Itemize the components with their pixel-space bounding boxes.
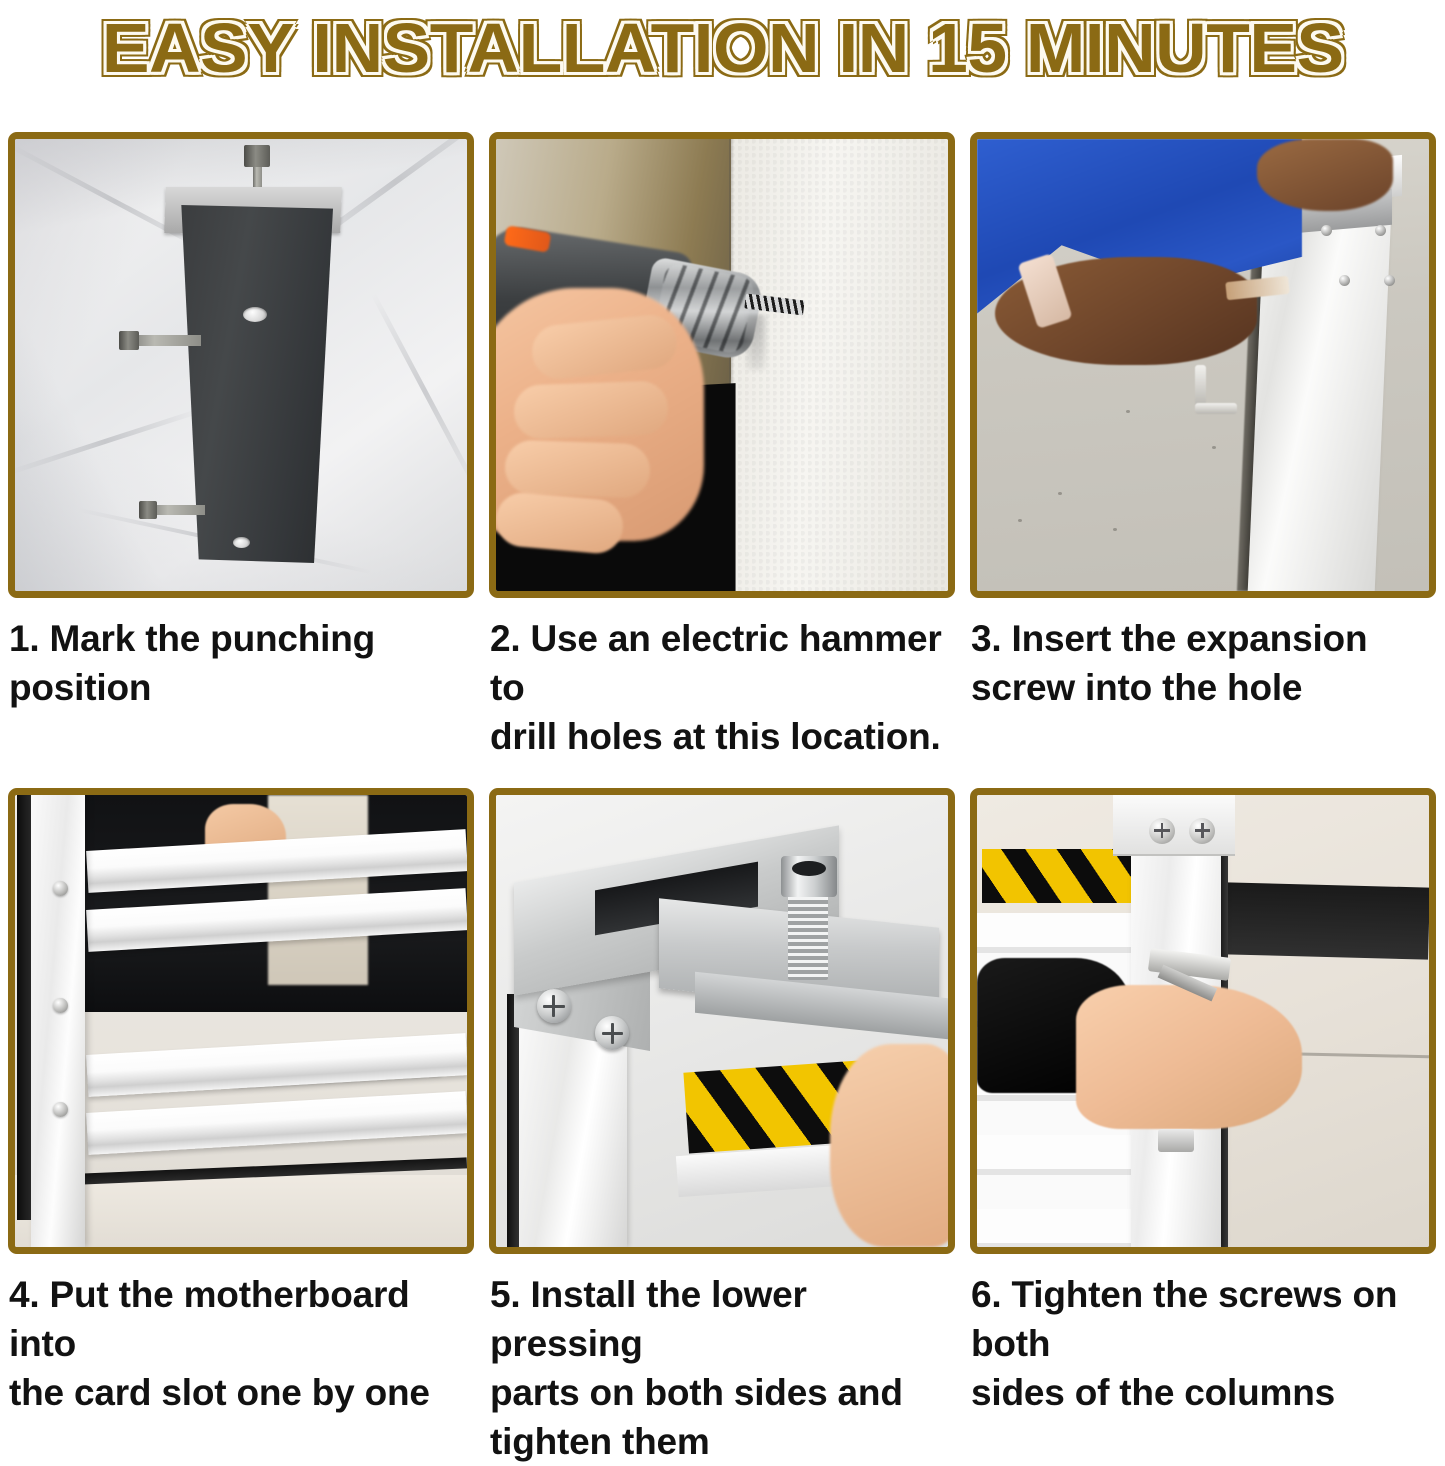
template-lower-hole <box>233 537 250 548</box>
white-column <box>31 795 85 1247</box>
upper-hand <box>1257 139 1393 211</box>
template-upper-hole <box>243 307 267 322</box>
floor-speck-1 <box>1058 492 1062 495</box>
step-6: 6. Tighten the screws on both sides of t… <box>970 788 1436 1466</box>
step-3: 3. Insert the expansion screw into the h… <box>970 132 1436 761</box>
step-3-caption: 3. Insert the expansion screw into the h… <box>970 614 1436 712</box>
expansion-screw-photo <box>970 132 1436 598</box>
marking-template-image <box>15 139 467 591</box>
installer-hand <box>1076 985 1302 1130</box>
page-title: EASY INSTALLATION IN 15 MINUTES <box>102 11 1344 85</box>
tighten-screws-photo <box>970 788 1436 1254</box>
drilling-wall-photo <box>489 132 955 598</box>
column-bolt-3 <box>1339 275 1350 286</box>
step-2-caption: 2. Use an electric hammer to drill holes… <box>489 614 955 761</box>
step-1-caption: 1. Mark the punching position <box>8 614 474 712</box>
allen-key-long-arm <box>1195 365 1206 407</box>
floor-speck-2 <box>1113 528 1117 531</box>
title-banner: EASY INSTALLATION IN 15 MINUTES <box>0 0 1445 92</box>
drill-dust <box>745 315 768 369</box>
pressing-part-image <box>496 795 948 1247</box>
step-6-caption: 6. Tighten the screws on both sides of t… <box>970 1270 1436 1417</box>
top-rod-nut <box>244 145 270 167</box>
side-bolt-upper-head <box>119 331 139 350</box>
finger-4 <box>496 491 625 556</box>
tighten-screws-image <box>977 795 1429 1247</box>
column-bolt-2 <box>1375 225 1386 236</box>
finger-3 <box>504 439 650 498</box>
step-1: 1. Mark the punching position <box>8 132 474 761</box>
step-4-caption: 4. Put the motherboard into the card slo… <box>8 1270 474 1417</box>
step-2: 2. Use an electric hammer to drill holes… <box>489 132 955 761</box>
insert-boards-photo <box>8 788 474 1254</box>
marking-template-photo <box>8 132 474 598</box>
lower-column-screw <box>1158 1129 1194 1152</box>
cross-screw-1 <box>537 989 571 1023</box>
hex-socket-icon <box>792 861 826 876</box>
side-bolt-lower-head <box>139 501 157 519</box>
allen-key-icon <box>1176 365 1244 424</box>
pressing-part-photo <box>489 788 955 1254</box>
finger-2 <box>513 380 668 440</box>
column-screw-top-left <box>1149 818 1175 844</box>
column-screw-top-right <box>1189 818 1215 844</box>
hazard-stripe-board <box>982 849 1136 903</box>
drilling-wall-image <box>496 139 948 591</box>
column-bolt-1 <box>1321 225 1332 236</box>
column-dark-edge <box>17 795 31 1220</box>
allen-key-short-arm <box>1195 403 1237 414</box>
column-dark-edge <box>507 994 519 1247</box>
step-4: 4. Put the motherboard into the card slo… <box>8 788 474 1466</box>
step-5-caption: 5. Install the lower pressing parts on b… <box>489 1270 955 1466</box>
insert-boards-image <box>15 795 467 1247</box>
step-5: 5. Install the lower pressing parts on b… <box>489 788 955 1466</box>
column-bolt-4 <box>1384 275 1395 286</box>
installer-hand <box>830 1044 948 1247</box>
installation-steps-grid: 1. Mark the punching position <box>8 132 1437 1466</box>
hex-bolt-shaft <box>788 890 829 980</box>
expansion-screw-image <box>977 139 1429 591</box>
dark-wall-band <box>1225 883 1429 961</box>
floor-speck-3 <box>1018 519 1022 522</box>
